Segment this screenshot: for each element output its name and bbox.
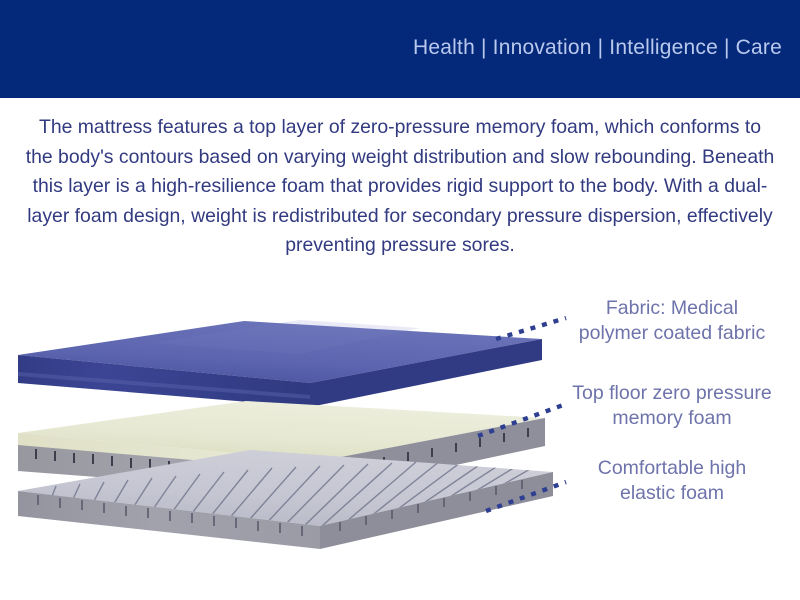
callout-label-memory-foam: Top floor zero pressure memory foam — [548, 381, 796, 431]
layer-fabric-cover — [18, 320, 542, 407]
header-tagline: Health | Innovation | Intelligence | Car… — [413, 36, 782, 60]
callout-label-elastic-foam: Comfortable high elastic foam — [548, 456, 796, 506]
callout-label-fabric: Fabric: Medical polymer coated fabric — [548, 296, 796, 346]
header-bar: Health | Innovation | Intelligence | Car… — [0, 0, 800, 98]
intro-paragraph: The mattress features a top layer of zer… — [24, 113, 776, 261]
